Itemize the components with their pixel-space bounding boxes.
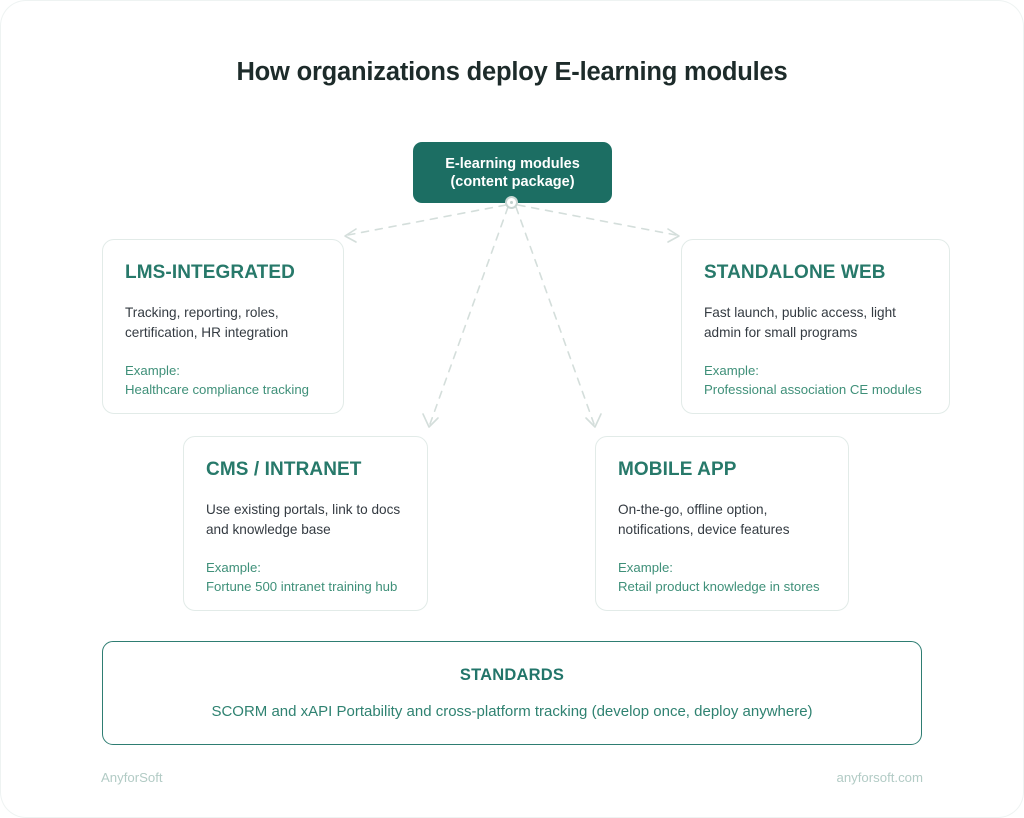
card-example-value: Healthcare compliance tracking [125, 380, 321, 399]
footer-brand: AnyforSoft [101, 770, 163, 785]
card-example-label: Example: [206, 558, 405, 577]
card-title: CMS / INTRANET [206, 459, 405, 481]
standards-banner: STANDARDS SCORM and xAPI Portability and… [102, 641, 922, 745]
card-example-label: Example: [618, 558, 826, 577]
card-example-value: Fortune 500 intranet training hub [206, 577, 405, 596]
card-description: Tracking, reporting, roles, certificatio… [125, 303, 321, 343]
root-node-line2: (content package) [450, 173, 574, 191]
card-cms-intranet: CMS / INTRANET Use existing portals, lin… [183, 436, 428, 611]
card-example-label: Example: [704, 361, 927, 380]
root-node-line1: E-learning modules [445, 155, 580, 173]
card-title: MOBILE APP [618, 459, 826, 481]
footer-website: anyforsoft.com [837, 770, 924, 785]
root-connector-dot-icon [505, 196, 518, 209]
card-lms-integrated: LMS-INTEGRATED Tracking, reporting, role… [102, 239, 344, 414]
standards-title: STANDARDS [460, 666, 564, 685]
card-example-value: Professional association CE modules [704, 380, 927, 399]
card-standalone-web: STANDALONE WEB Fast launch, public acces… [681, 239, 950, 414]
card-description: Use existing portals, link to docs and k… [206, 500, 405, 540]
page-title: How organizations deploy E-learning modu… [0, 58, 1024, 87]
card-mobile-app: MOBILE APP On-the-go, offline option, no… [595, 436, 849, 611]
card-title: STANDALONE WEB [704, 262, 927, 284]
card-title: LMS-INTEGRATED [125, 262, 321, 284]
diagram-canvas: How organizations deploy E-learning modu… [0, 0, 1024, 818]
standards-text: SCORM and xAPI Portability and cross-pla… [211, 703, 812, 720]
root-node: E-learning modules (content package) [413, 142, 612, 203]
card-example-value: Retail product knowledge in stores [618, 577, 826, 596]
card-description: Fast launch, public access, light admin … [704, 303, 927, 343]
card-description: On-the-go, offline option, notifications… [618, 500, 826, 540]
card-example-label: Example: [125, 361, 321, 380]
